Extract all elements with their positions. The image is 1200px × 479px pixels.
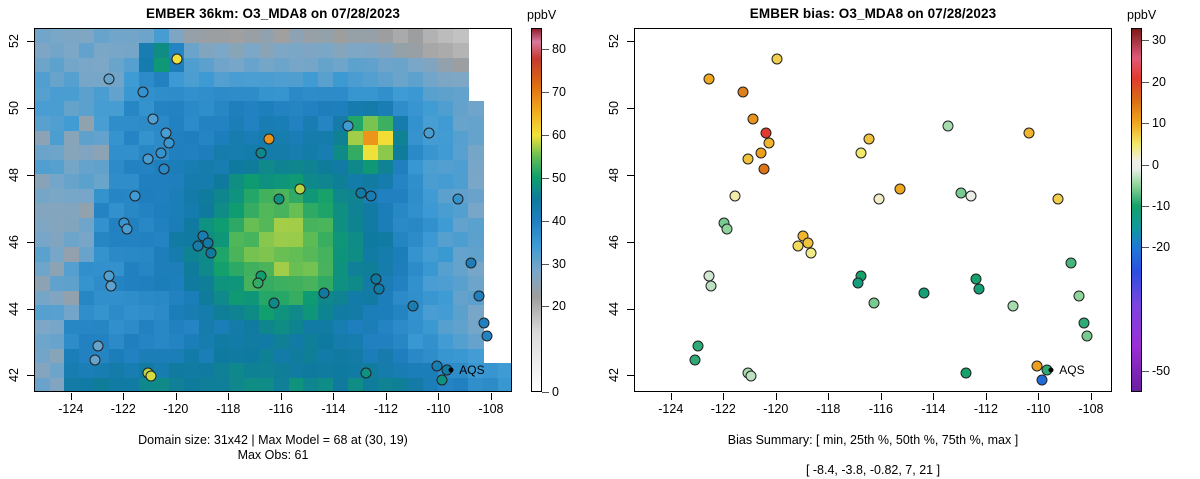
- y-axis-label: 44: [607, 302, 621, 316]
- x-axis-tick: [986, 393, 987, 400]
- y-axis-label: 42: [7, 368, 21, 382]
- coastline-path: [792, 29, 882, 391]
- y-axis-tick: [27, 108, 34, 109]
- observation-marker: [966, 190, 977, 201]
- colorbar-tick-label: 60: [552, 128, 566, 142]
- observation-marker: [955, 187, 966, 198]
- observation-marker: [918, 287, 929, 298]
- colorbar-tick-label: -50: [1152, 364, 1170, 378]
- x-axis-label: -110: [1026, 402, 1050, 416]
- state-border-path-2: [873, 210, 896, 378]
- y-axis-tick: [627, 375, 634, 376]
- x-axis-tick: [333, 393, 334, 400]
- observation-marker: [855, 147, 866, 158]
- colorbar-tick: [542, 135, 549, 136]
- colorbar-tick-label: 80: [552, 42, 566, 56]
- colorbar-tick-label: 0: [552, 385, 559, 399]
- observation-marker: [748, 114, 759, 125]
- observation-marker: [121, 224, 132, 235]
- map-canvas-bias: AQS: [635, 29, 1111, 391]
- aqs-legend-dot-icon: [449, 368, 454, 373]
- x-axis-label: -114: [921, 402, 945, 416]
- state-border-path-11: [478, 29, 483, 110]
- y-axis-tick: [27, 242, 34, 243]
- observation-marker: [263, 134, 274, 145]
- observation-marker: [269, 297, 280, 308]
- colorbar-tick: [542, 221, 549, 222]
- vancouver-island-path: [825, 32, 858, 47]
- observation-marker: [158, 164, 169, 175]
- state-border-path-8: [275, 376, 368, 379]
- y-axis-tick: [627, 108, 634, 109]
- observation-marker: [974, 284, 985, 295]
- observation-marker: [942, 120, 953, 131]
- x-axis-tick: [491, 393, 492, 400]
- observation-marker: [874, 194, 885, 205]
- observation-marker: [745, 371, 756, 382]
- observation-marker: [452, 194, 463, 205]
- state-border-path-2: [273, 210, 296, 378]
- observation-marker: [374, 284, 385, 295]
- y-axis-label: 50: [7, 101, 21, 115]
- colorbar-tick: [1142, 247, 1149, 248]
- x-axis-tick: [438, 393, 439, 400]
- colorbar-tick-label: 30: [1152, 33, 1166, 47]
- observation-marker: [205, 247, 216, 258]
- vancouver-island-path: [225, 32, 258, 47]
- observation-marker: [318, 287, 329, 298]
- x-axis-label: -120: [163, 402, 188, 416]
- colorbar-tick: [542, 264, 549, 265]
- observation-marker: [1008, 301, 1019, 312]
- colorbar-tick-label: -10: [1152, 199, 1170, 213]
- x-axis-tick: [723, 393, 724, 400]
- observation-marker: [805, 247, 816, 258]
- observation-marker: [1065, 257, 1076, 268]
- x-axis-label: -108: [478, 402, 503, 416]
- y-axis-tick: [627, 175, 634, 176]
- caption-bias-header: Bias Summary: [ min, 25th %, 50th %, 75t…: [634, 433, 1112, 448]
- observation-marker: [106, 281, 117, 292]
- state-border-path-5: [792, 110, 1111, 117]
- colorbar-tick-label: 50: [552, 171, 566, 185]
- observation-marker: [295, 184, 306, 195]
- colorbar-tick: [542, 92, 549, 93]
- y-axis-label: 46: [7, 235, 21, 249]
- panel-model: EMBER 36km: O3_MDA8 on 07/28/2023 AQS -1…: [0, 0, 600, 479]
- y-axis-tick: [27, 41, 34, 42]
- x-axis-label: -114: [321, 402, 345, 416]
- observation-marker: [1073, 291, 1084, 302]
- plot-frame-model: AQS: [34, 28, 512, 392]
- observation-marker: [360, 367, 371, 378]
- observation-marker: [156, 147, 167, 158]
- state-border-path-6: [968, 264, 1044, 267]
- panel-bias-title: EMBER bias: O3_MDA8 on 07/28/2023: [634, 6, 1112, 21]
- observation-marker: [366, 190, 377, 201]
- y-axis-tick: [627, 242, 634, 243]
- panel-bias: EMBER bias: O3_MDA8 on 07/28/2023 AQS -1…: [600, 0, 1200, 479]
- observation-marker: [192, 241, 203, 252]
- y-axis-label: 52: [7, 34, 21, 48]
- x-axis-tick: [828, 393, 829, 400]
- observation-marker: [1081, 331, 1092, 342]
- observation-marker: [129, 190, 140, 201]
- x-axis-label: -118: [816, 402, 840, 416]
- x-axis-tick: [228, 393, 229, 400]
- state-border-path-6: [368, 264, 444, 267]
- x-axis-label: -116: [269, 402, 293, 416]
- state-border-path-0: [804, 209, 968, 216]
- x-axis-label: -122: [111, 402, 136, 416]
- observation-marker: [437, 374, 448, 385]
- colorbar-tick: [542, 49, 549, 50]
- observation-marker: [479, 317, 490, 328]
- observation-marker: [863, 134, 874, 145]
- state-border-path-4: [898, 76, 1045, 288]
- observation-marker: [142, 154, 153, 165]
- x-axis-label: -124: [58, 402, 83, 416]
- colorbar-tick: [1142, 82, 1149, 83]
- y-axis-label: 44: [7, 302, 21, 316]
- observation-marker: [137, 87, 148, 98]
- state-border-path-4: [298, 76, 445, 288]
- y-axis-label: 50: [607, 101, 621, 115]
- observation-marker: [763, 137, 774, 148]
- panel-model-title: EMBER 36km: O3_MDA8 on 07/28/2023: [34, 6, 512, 21]
- y-axis-tick: [27, 375, 34, 376]
- observation-marker: [163, 137, 174, 148]
- y-axis-label: 42: [607, 368, 621, 382]
- colorbar-tick-label: 0: [1152, 158, 1159, 172]
- observation-marker: [703, 74, 714, 85]
- observation-marker: [721, 224, 732, 235]
- observation-marker: [408, 301, 419, 312]
- y-axis-label: 46: [607, 235, 621, 249]
- coastline-path: [192, 29, 282, 391]
- observation-marker: [792, 241, 803, 252]
- observation-marker: [690, 354, 701, 365]
- y-axis-label: 52: [607, 34, 621, 48]
- aqs-legend-label: AQS: [459, 363, 484, 377]
- y-axis-tick: [627, 41, 634, 42]
- observation-marker: [895, 184, 906, 195]
- colorbar-tick: [1142, 165, 1149, 166]
- x-axis-tick: [1091, 393, 1092, 400]
- colorbar-tick-label: 30: [552, 257, 566, 271]
- x-axis-tick: [1038, 393, 1039, 400]
- x-axis-tick: [671, 393, 672, 400]
- observation-marker: [171, 54, 182, 65]
- colorbar-tick-label: 40: [552, 214, 566, 228]
- observation-marker: [423, 127, 434, 138]
- observation-marker: [481, 331, 492, 342]
- colorbar-tick: [542, 392, 549, 393]
- observation-marker: [729, 190, 740, 201]
- x-axis-label: -120: [763, 402, 788, 416]
- puget-sound-path: [859, 51, 872, 104]
- state-border-path-0: [204, 209, 368, 216]
- observation-marker: [371, 274, 382, 285]
- observation-marker: [1079, 317, 1090, 328]
- observation-marker: [255, 147, 266, 158]
- observation-marker: [1037, 374, 1048, 385]
- aqs-legend-label: AQS: [1059, 363, 1084, 377]
- colorbar-tick: [1142, 206, 1149, 207]
- observation-marker: [853, 277, 864, 288]
- y-axis-tick: [627, 309, 634, 310]
- x-axis-label: -112: [974, 402, 998, 416]
- x-axis-tick: [123, 393, 124, 400]
- caption-bias-values: [ -8.4, -3.8, -0.82, 7, 21 ]: [634, 463, 1112, 478]
- observation-marker: [737, 87, 748, 98]
- x-axis-tick: [176, 393, 177, 400]
- x-axis-label: -112: [374, 402, 398, 416]
- x-axis-label: -116: [869, 402, 893, 416]
- colorbar-tick-label: 70: [552, 85, 566, 99]
- observation-marker: [145, 371, 156, 382]
- observation-marker: [103, 74, 114, 85]
- observation-marker: [971, 274, 982, 285]
- observation-marker: [93, 341, 104, 352]
- observation-marker: [342, 120, 353, 131]
- state-border-path-11: [1078, 29, 1083, 110]
- observation-marker: [355, 187, 366, 198]
- colorbar-model-unit: ppbV: [527, 8, 556, 22]
- x-axis-label: -124: [658, 402, 683, 416]
- figure-canvas: EMBER 36km: O3_MDA8 on 07/28/2023 AQS -1…: [0, 0, 1200, 479]
- x-axis-label: -118: [216, 402, 240, 416]
- caption-model-domain: Domain size: 31x42 | Max Model = 68 at (…: [34, 433, 512, 448]
- x-axis-tick: [281, 393, 282, 400]
- caption-model-maxobs: Max Obs: 61: [34, 448, 512, 463]
- observation-marker: [90, 354, 101, 365]
- puget-sound-path: [259, 51, 272, 104]
- colorbar-bias-unit: ppbV: [1127, 8, 1156, 22]
- x-axis-tick: [71, 393, 72, 400]
- state-border-path-10: [942, 29, 987, 110]
- x-axis-tick: [776, 393, 777, 400]
- state-border-path-5: [192, 110, 511, 117]
- state-border-path-10: [342, 29, 387, 110]
- colorbar-tick-label: 10: [1152, 116, 1166, 130]
- aqs-legend-dot-icon: [1049, 368, 1054, 373]
- observation-marker: [465, 257, 476, 268]
- observation-marker: [758, 164, 769, 175]
- observation-marker: [1031, 361, 1042, 372]
- observation-marker: [473, 291, 484, 302]
- y-axis-tick: [27, 309, 34, 310]
- observation-marker: [431, 361, 442, 372]
- map-canvas-model: AQS: [35, 29, 511, 391]
- plot-frame-bias: AQS: [634, 28, 1112, 392]
- observation-marker: [869, 297, 880, 308]
- observation-marker: [1023, 127, 1034, 138]
- colorbar-model-gradient: [531, 28, 542, 392]
- x-axis-tick: [881, 393, 882, 400]
- y-axis-label: 48: [607, 168, 621, 182]
- observation-marker: [756, 147, 767, 158]
- observation-marker: [742, 154, 753, 165]
- observation-marker: [253, 277, 264, 288]
- colorbar-tick: [1142, 371, 1149, 372]
- x-axis-label: -122: [711, 402, 736, 416]
- observation-marker: [693, 341, 704, 352]
- observation-marker: [960, 367, 971, 378]
- observation-marker: [274, 194, 285, 205]
- colorbar-bias-gradient: [1131, 28, 1142, 392]
- colorbar-tick: [542, 306, 549, 307]
- colorbar-tick: [542, 178, 549, 179]
- y-axis-tick: [27, 175, 34, 176]
- observation-marker: [771, 54, 782, 65]
- colorbar-tick-label: -20: [1152, 240, 1170, 254]
- state-border-path-8: [875, 376, 968, 379]
- x-axis-tick: [933, 393, 934, 400]
- y-axis-label: 48: [7, 168, 21, 182]
- x-axis-label: -110: [426, 402, 450, 416]
- x-axis-tick: [386, 393, 387, 400]
- observation-marker: [1052, 194, 1063, 205]
- colorbar-tick: [1142, 123, 1149, 124]
- colorbar-tick-label: 20: [552, 299, 566, 313]
- observation-marker: [706, 281, 717, 292]
- x-axis-label: -108: [1078, 402, 1103, 416]
- observation-marker: [148, 114, 159, 125]
- colorbar-tick: [1142, 40, 1149, 41]
- colorbar-tick-label: 20: [1152, 75, 1166, 89]
